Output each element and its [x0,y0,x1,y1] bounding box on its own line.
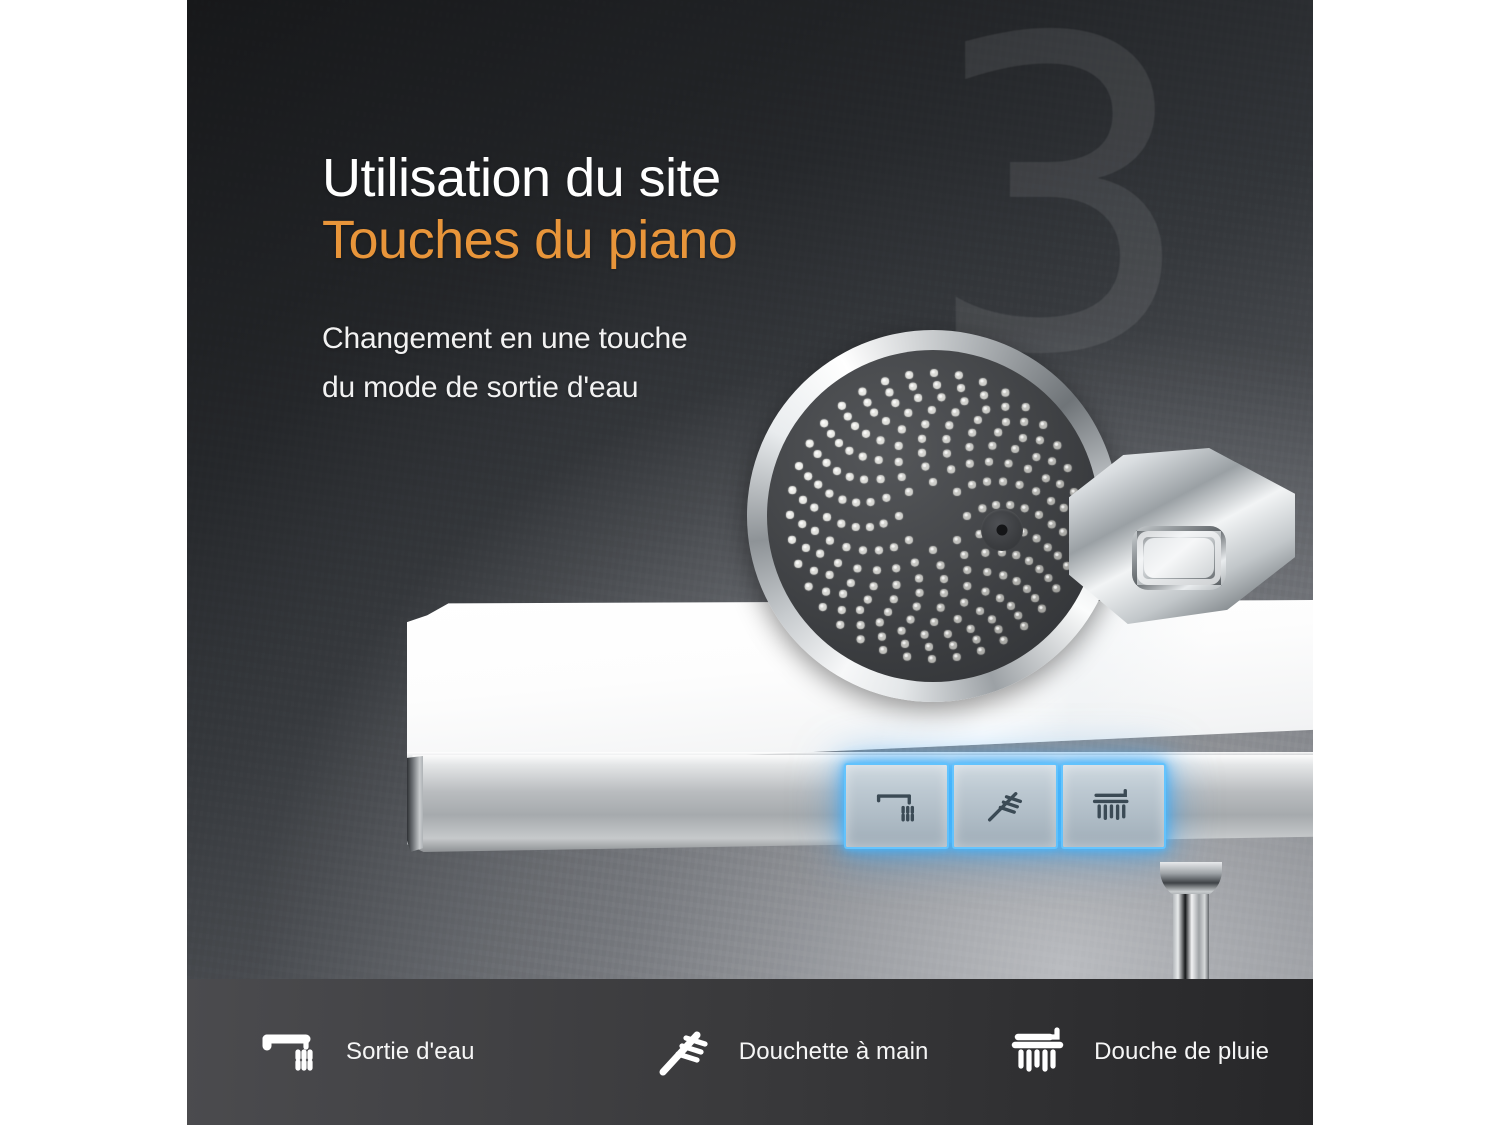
hand-shower-icon [653,1022,717,1082]
product-photo: 3 Utilisation du site Touches du piano C… [187,0,1313,1125]
piano-key-rain-shower[interactable] [1061,763,1166,849]
headline-line-1: Utilisation du site [322,148,882,208]
legend-item-hand-shower: Douchette à main [653,979,1008,1125]
legend-label-water-spout: Sortie d'eau [346,1038,475,1066]
legend-item-rain-shower: Douche de pluie [1008,979,1313,1125]
legend-item-water-spout: Sortie d'eau [187,979,653,1125]
rain-shower-icon [1008,1022,1072,1082]
water-spout-icon [260,1022,324,1082]
rain-shower-icon [1090,786,1136,826]
hand-shower-icon [982,786,1028,826]
piano-key-hand-shower[interactable] [952,763,1057,849]
legend-label-rain-shower: Douche de pluie [1094,1038,1269,1066]
hand-shower-product: EMKE [747,330,1257,730]
water-spout-icon [874,786,920,826]
legend-label-hand-shower: Douchette à main [739,1038,929,1066]
marketing-image: 3 Utilisation du site Touches du piano C… [0,0,1500,1125]
shower-head-face [767,350,1099,682]
shelf-left-cap [407,756,423,852]
riser-pipe [1173,894,1209,980]
handle-slot-detail [1132,526,1226,590]
legend-band: Sortie d'eau Douchette à main [187,979,1313,1125]
piano-key-panel[interactable] [844,763,1166,849]
shower-head-center-port [981,509,1023,551]
nozzle-dots [767,350,1099,682]
headline-line-2: Touches du piano [322,210,882,270]
piano-key-water-spout[interactable] [844,763,949,849]
